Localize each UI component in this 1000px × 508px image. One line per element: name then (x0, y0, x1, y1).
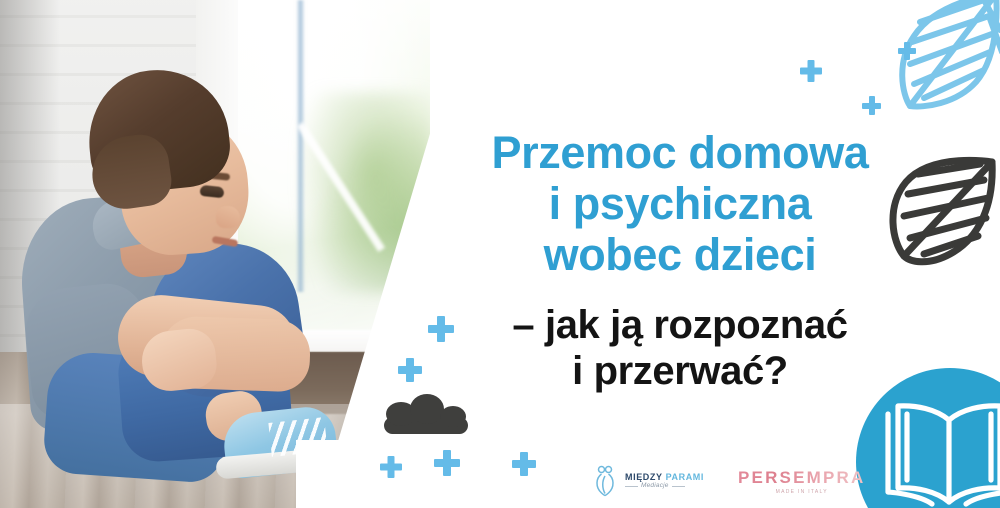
subhead-line-1: – jak ją rozpoznać (430, 303, 930, 349)
two-figures-icon (592, 465, 618, 497)
logo-persempra[interactable]: PERSEMPRA MADE IN ITALY (738, 468, 866, 495)
partner-logos: MIĘDZY PARAMI Mediacje PERSEMPRA MADE IN… (592, 458, 824, 504)
subhead-line-2: i przerwać? (430, 349, 930, 395)
plus-icon (862, 96, 881, 115)
headline-line-3: wobec dzieci (430, 230, 930, 281)
page-title: Przemoc domowa i psychiczna wobec dzieci (430, 128, 930, 281)
open-book-icon (874, 392, 1000, 508)
page-subtitle: – jak ją rozpoznać i przerwać? (430, 303, 930, 394)
plus-icon (800, 60, 822, 82)
plus-icon (512, 452, 536, 476)
plus-icon (380, 456, 402, 478)
logo-persempra-tagline: MADE IN ITALY (738, 489, 866, 495)
logo-miedzy-parami-name: MIĘDZY PARAMI (625, 472, 704, 482)
headline-line-2: i psychiczna (430, 179, 930, 230)
boy-nose (216, 206, 240, 228)
article-banner: Przemoc domowa i psychiczna wobec dzieci… (0, 0, 1000, 508)
plus-icon (898, 42, 916, 60)
headline-line-1: Przemoc domowa (430, 128, 930, 179)
boy-eye (199, 185, 224, 198)
logo-persempra-name: PERSEMPRA (738, 468, 866, 488)
cloud-icon (384, 404, 468, 434)
plus-icon (434, 450, 460, 476)
logo-miedzy-parami-tagline: Mediacje (625, 482, 704, 489)
logo-miedzy-parami[interactable]: MIĘDZY PARAMI Mediacje (592, 465, 704, 497)
plus-icon (398, 358, 422, 382)
boy-figure (0, 0, 330, 508)
